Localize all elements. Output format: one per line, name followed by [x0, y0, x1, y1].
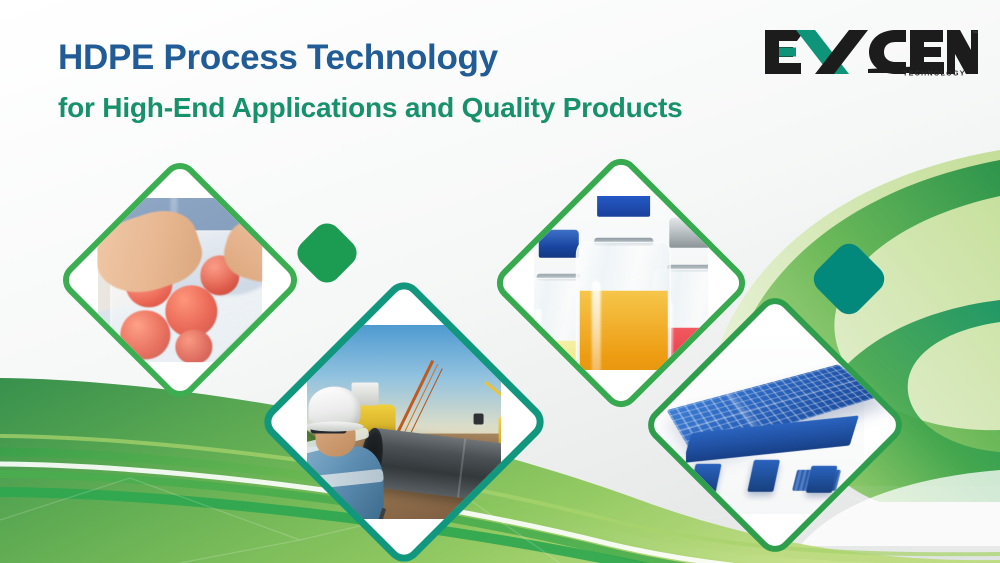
excene-logo[interactable]: ™ TECHNOLOGY [763, 26, 978, 78]
banner-canvas: HDPE Process Technology for High-End App… [0, 0, 1000, 563]
logo-letter-x [796, 30, 868, 74]
tile-bottles-image [534, 196, 708, 370]
page-title: HDPE Process Technology [58, 38, 498, 78]
tile-pallet-image [686, 336, 864, 514]
tile-pipeline-image [307, 325, 501, 519]
logo-tagline: TECHNOLOGY [903, 69, 966, 78]
logo-trademark: ™ [972, 30, 978, 37]
bottle-center [576, 209, 671, 370]
tile-produce-bag-image [98, 198, 262, 362]
banner-header: HDPE Process Technology for High-End App… [0, 0, 1000, 150]
excene-logo-mark: ™ TECHNOLOGY [763, 26, 978, 78]
page-subtitle: for High-End Applications and Quality Pr… [58, 92, 682, 124]
logo-accent-bar [779, 48, 796, 57]
